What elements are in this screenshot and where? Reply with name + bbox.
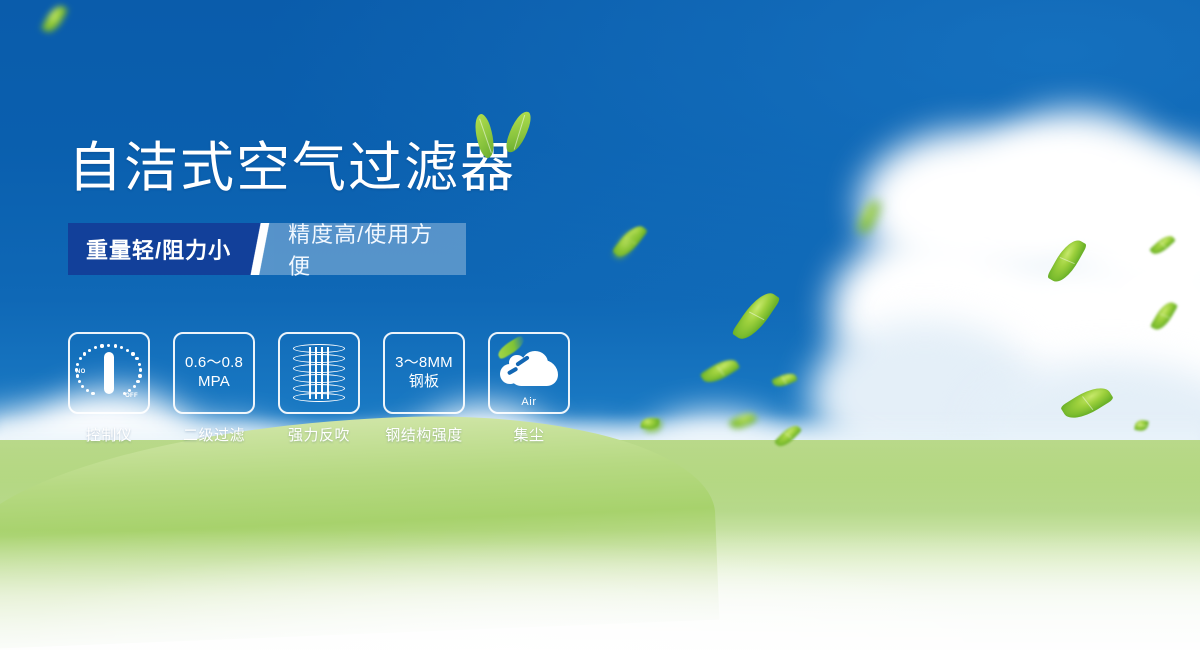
grass-highlight [0,530,1200,650]
air-label: Air [498,396,560,408]
leaf-icon-right [504,108,533,155]
feature-list: NO OFF 控制仪 0.6～0.8 MPA 二级过滤 [68,332,570,445]
feature-item-control[interactable]: NO OFF 控制仪 [68,332,150,445]
feature-icon-box: 3～8MM 钢板 [383,332,465,414]
feature-caption: 集尘 [513,424,544,445]
title-leaves-decoration [474,110,554,162]
steel-line-2: 钢板 [395,373,453,392]
pressure-line-2: MPA [185,373,243,392]
coil-filter-icon [293,344,345,402]
feature-icon-box: NO OFF [68,332,150,414]
page-title: 自洁式空气过滤器 [68,140,708,197]
feature-item-dust[interactable]: Air 集尘 [488,332,570,445]
feature-item-steel[interactable]: 3～8MM 钢板 钢结构强度 [383,332,465,445]
feature-icon-box: 0.6～0.8 MPA [173,332,255,414]
pressure-text-icon: 0.6～0.8 MPA [185,354,243,392]
control-dial-icon: NO OFF [76,343,142,403]
air-cloud-icon: Air [498,348,560,398]
feature-item-pressure[interactable]: 0.6～0.8 MPA 二级过滤 [173,332,255,445]
subtitle-secondary: 精度高/使用方便 [274,223,466,275]
feature-item-blowback[interactable]: 强力反吹 [278,332,360,445]
banner-content: 自洁式空气过滤器 重量轻/阻力小 精度高/使用方便 [68,140,708,275]
ribbon-divider [248,223,274,275]
steel-line-1: 3～8MM [395,354,453,373]
feature-caption: 钢结构强度 [385,424,463,445]
feature-icon-box: Air [488,332,570,414]
subtitle-ribbon: 重量轻/阻力小 精度高/使用方便 [68,223,466,275]
subtitle-primary: 重量轻/阻力小 [68,223,248,275]
steel-thickness-text-icon: 3～8MM 钢板 [395,354,453,392]
grass-field [0,440,1200,650]
feature-caption: 控制仪 [86,424,133,445]
pressure-line-1: 0.6～0.8 [185,354,243,373]
dial-label-off: OFF [125,393,138,399]
dial-label-no: NO [76,369,86,375]
leaf-icon-left [469,112,499,159]
feature-caption: 强力反吹 [288,424,350,445]
product-banner: 自洁式空气过滤器 重量轻/阻力小 精度高/使用方便 [0,0,1200,650]
dial-needle [104,352,114,394]
feature-icon-box [278,332,360,414]
feature-caption: 二级过滤 [183,424,245,445]
